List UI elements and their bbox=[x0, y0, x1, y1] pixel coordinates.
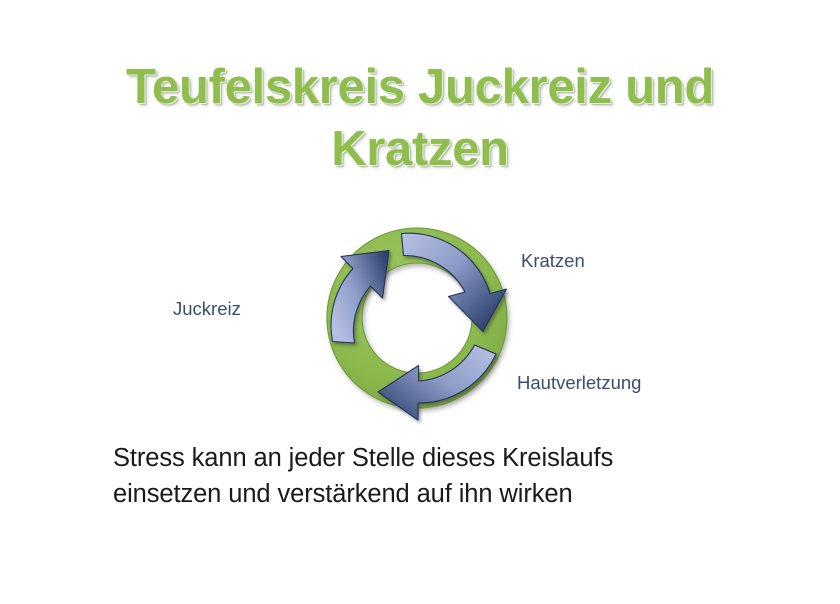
slide-title: Teufelskreis Juckreiz und Kratzen bbox=[0, 56, 840, 180]
cycle-label-kratzen: Kratzen bbox=[521, 250, 585, 272]
cycle-diagram-graphic bbox=[305, 210, 535, 435]
cycle-label-hautverletzung: Hautverletzung bbox=[517, 372, 641, 394]
cycle-label-juckreiz: Juckreiz bbox=[173, 298, 241, 320]
slide-canvas: Teufelskreis Juckreiz und Kratzen bbox=[0, 0, 840, 604]
slide-title-line-2: Kratzen bbox=[0, 118, 840, 180]
slide-caption-line-2: einsetzen und verstärkend auf ihn wirken bbox=[113, 476, 753, 512]
slide-caption: Stress kann an jeder Stelle dieses Kreis… bbox=[113, 440, 753, 512]
slide-title-line-1: Teufelskreis Juckreiz und bbox=[0, 56, 840, 118]
vicious-cycle-diagram bbox=[305, 210, 535, 435]
slide-caption-line-1: Stress kann an jeder Stelle dieses Kreis… bbox=[113, 440, 753, 476]
